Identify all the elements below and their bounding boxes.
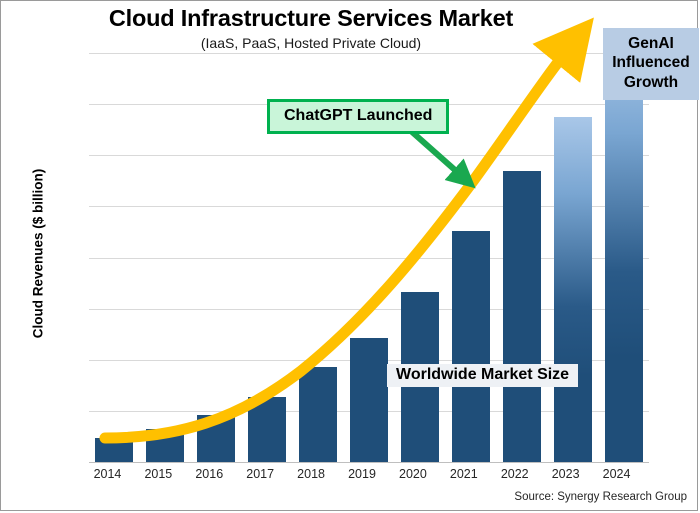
gridline [89,53,649,54]
x-axis: 2014201520162017201820192020202120222023… [89,467,649,487]
genai-callout-line-1: GenAI [605,34,697,53]
genai-callout-line-2: Influenced [605,53,697,72]
chatgpt-launched-callout: ChatGPT Launched [267,99,449,134]
bar-2019 [350,338,388,462]
bar-2024 [605,40,643,462]
chart-frame: Cloud Infrastructure Services Market (Ia… [0,0,698,511]
x-tick-label-2014: 2014 [81,467,133,481]
bar-2023 [554,117,592,462]
bar-2016 [197,415,235,462]
bar-2017 [248,397,286,462]
y-axis-title: Cloud Revenues ($ billion) [31,129,46,379]
genai-callout-line-3: Growth [605,73,697,92]
x-tick-label-2023: 2023 [540,467,592,481]
x-tick-label-2018: 2018 [285,467,337,481]
x-tick-label-2024: 2024 [591,467,643,481]
x-tick-label-2016: 2016 [183,467,235,481]
x-tick-label-2020: 2020 [387,467,439,481]
x-tick-label-2017: 2017 [234,467,286,481]
chart-title: Cloud Infrastructure Services Market [1,5,621,32]
bar-2014 [95,438,133,462]
bar-2015 [146,429,184,462]
genai-influenced-growth-callout: GenAI Influenced Growth [603,28,699,100]
market-size-text: Worldwide Market Size [396,366,569,383]
x-tick-label-2022: 2022 [489,467,541,481]
gridline [89,462,649,463]
bar-2021 [452,231,490,462]
source-caption: Source: Synergy Research Group [514,491,687,503]
x-tick-label-2015: 2015 [132,467,184,481]
x-tick-label-2019: 2019 [336,467,388,481]
x-tick-label-2021: 2021 [438,467,490,481]
bar-2022 [503,171,541,462]
worldwide-market-size-label: Worldwide Market Size [387,364,578,387]
chart-subtitle: (IaaS, PaaS, Hosted Private Cloud) [1,35,621,51]
chatgpt-callout-text: ChatGPT Launched [284,107,432,124]
bar-2018 [299,367,337,462]
